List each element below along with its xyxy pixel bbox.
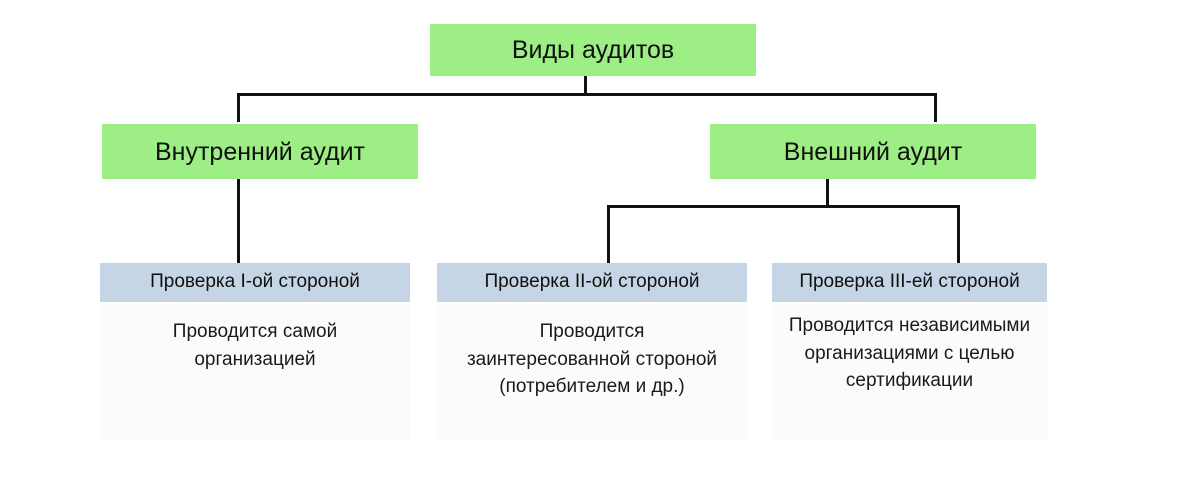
diagram-canvas: Виды аудитов Внутренний аудит Внешний ау…	[0, 0, 1200, 500]
connector-internal-to-first-party	[237, 179, 240, 263]
node-internal-audit-label: Внутренний аудит	[155, 137, 365, 167]
connector-external-stem	[826, 179, 829, 207]
node-header-first-party-label: Проверка I-ой стороной	[150, 271, 360, 294]
node-description-third-party: Проводится независимыми организациями с …	[772, 304, 1047, 439]
connector-external-drop	[934, 93, 937, 122]
node-description-first-party: Проводится самой организацией	[100, 304, 410, 439]
node-header-second-party[interactable]: Проверка II-ой стороной	[437, 263, 747, 302]
connector-third-party-drop	[957, 205, 960, 263]
node-header-third-party[interactable]: Проверка III-ей стороной	[772, 263, 1047, 302]
node-description-first-party-text: Проводится самой организацией	[100, 318, 410, 373]
node-root-audit-types[interactable]: Виды аудитов	[430, 24, 756, 76]
node-description-third-party-text: Проводится независимыми организациями с …	[772, 312, 1047, 395]
node-description-second-party-text: Проводится заинтересованной стороной (по…	[437, 318, 747, 401]
connector-level2-bus	[607, 205, 960, 208]
connector-second-party-drop	[607, 205, 610, 263]
node-external-audit-label: Внешний аудит	[784, 137, 962, 167]
node-header-third-party-label: Проверка III-ей стороной	[799, 271, 1019, 294]
node-header-second-party-label: Проверка II-ой стороной	[484, 271, 699, 294]
node-root-label: Виды аудитов	[512, 35, 674, 65]
node-external-audit[interactable]: Внешний аудит	[710, 124, 1036, 179]
node-internal-audit[interactable]: Внутренний аудит	[102, 124, 418, 179]
node-header-first-party[interactable]: Проверка I-ой стороной	[100, 263, 410, 302]
connector-level1-bus	[237, 93, 937, 96]
connector-internal-drop	[237, 93, 240, 122]
node-description-second-party: Проводится заинтересованной стороной (по…	[437, 304, 747, 439]
